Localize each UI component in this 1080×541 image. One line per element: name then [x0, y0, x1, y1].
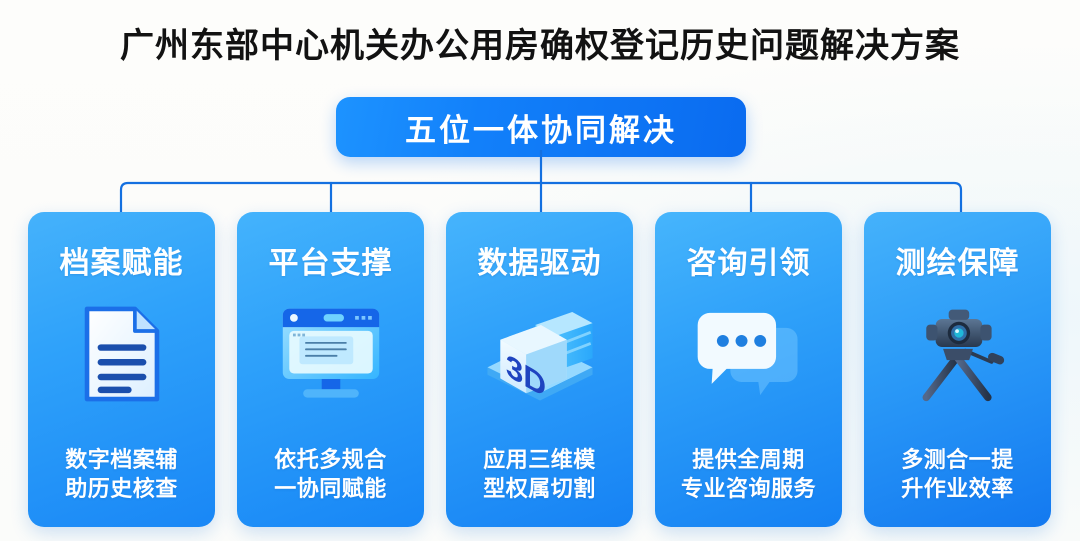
pillar-desc: 提供全周期 专业咨询服务 — [681, 445, 816, 503]
pillar-title: 测绘保障 — [896, 238, 1020, 282]
pillar-card-platform[interactable]: 平台支撑 — [237, 212, 424, 527]
pillar-card-data[interactable]: 数据驱动 — [446, 212, 633, 527]
pillar-desc-line-2: 专业咨询服务 — [681, 474, 816, 503]
pillar-card-survey[interactable]: 测绘保障 — [864, 212, 1051, 527]
survey-tripod-icon — [898, 296, 1018, 411]
pillar-desc: 数字档案辅 助历史核查 — [65, 445, 178, 503]
pillar-desc-line-2: 型权属切割 — [483, 474, 596, 503]
pillar-title: 数据驱动 — [478, 238, 602, 282]
connector-lines — [0, 150, 1080, 220]
pillar-desc-line-2: 一协同赋能 — [274, 474, 387, 503]
pillar-card-row: 档案赋能 — [28, 212, 1052, 527]
cube-3d-icon: 3D — [480, 296, 600, 411]
pillar-desc-line-1: 应用三维模 — [483, 445, 596, 474]
page-title: 广州东部中心机关办公用房确权登记历史问题解决方案 — [0, 18, 1080, 67]
chat-bubble-icon — [689, 296, 809, 411]
root-node-label: 五位一体协同解决 — [405, 105, 677, 150]
pillar-desc: 依托多规合 一协同赋能 — [274, 445, 387, 503]
pillar-desc: 应用三维模 型权属切割 — [483, 445, 596, 503]
pillar-title: 平台支撑 — [269, 238, 393, 282]
pillar-desc-line-1: 数字档案辅 — [65, 445, 178, 474]
pillar-desc-line-1: 多测合一提 — [901, 445, 1014, 474]
document-icon — [62, 296, 182, 411]
monitor-icon — [271, 296, 391, 411]
pillar-desc-line-1: 依托多规合 — [274, 445, 387, 474]
pillar-card-consulting[interactable]: 咨询引领 提供全周期 专业咨询服务 — [655, 212, 842, 527]
root-node-box: 五位一体协同解决 — [336, 97, 746, 157]
infographic-canvas: 广州东部中心机关办公用房确权登记历史问题解决方案 五位一体协同解决 档案赋能 — [0, 0, 1080, 541]
pillar-desc-line-1: 提供全周期 — [681, 445, 816, 474]
pillar-title: 档案赋能 — [60, 238, 184, 282]
pillar-title: 咨询引领 — [687, 238, 811, 282]
pillar-desc: 多测合一提 升作业效率 — [901, 445, 1014, 503]
pillar-desc-line-2: 助历史核查 — [65, 474, 178, 503]
pillar-card-archive[interactable]: 档案赋能 — [28, 212, 215, 527]
pillar-desc-line-2: 升作业效率 — [901, 474, 1014, 503]
